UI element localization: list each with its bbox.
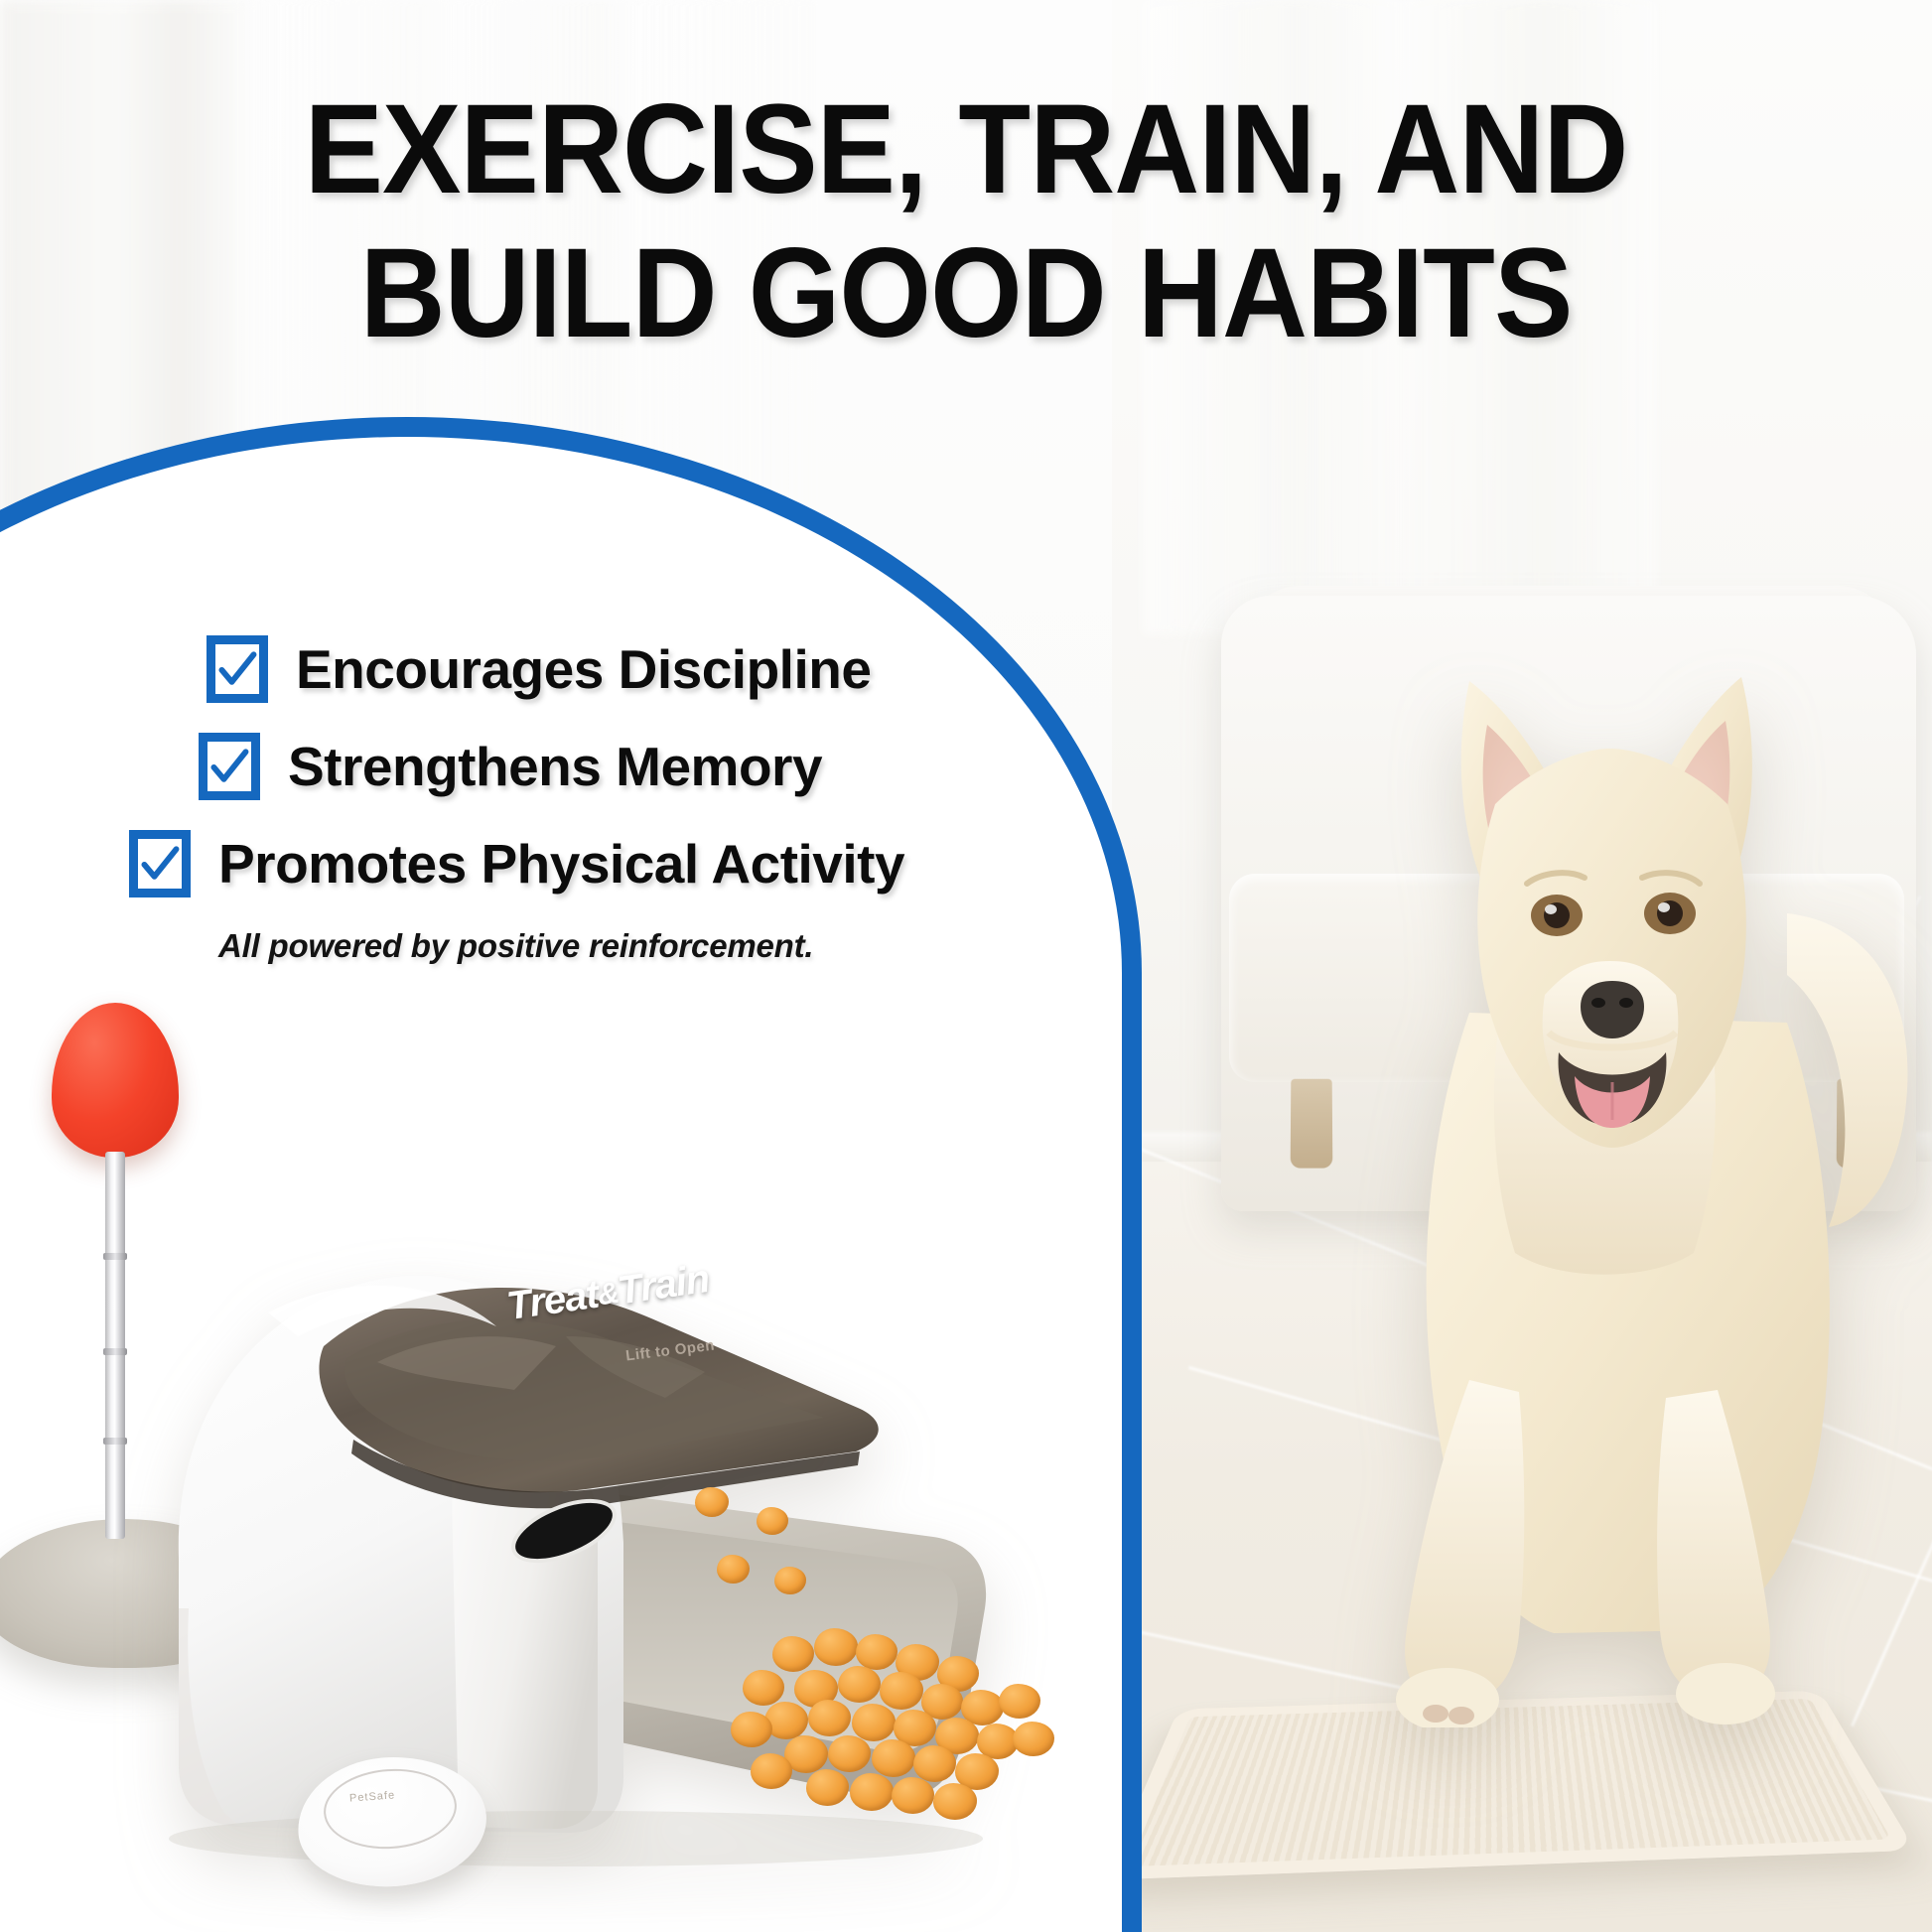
checklist-item-label: Encourages Discipline bbox=[296, 637, 871, 701]
headline-line-2: BUILD GOOD HABITS bbox=[68, 227, 1864, 359]
checklist-item[interactable]: Promotes Physical Activity bbox=[129, 830, 1023, 897]
tagline: All powered by positive reinforcement. bbox=[218, 927, 1023, 965]
kibble bbox=[717, 1555, 750, 1584]
marketing-banner: EXERCISE, TRAIN, AND BUILD GOOD HABITS E… bbox=[0, 0, 1932, 1932]
checklist-item-label: Strengthens Memory bbox=[288, 735, 822, 798]
kibble bbox=[757, 1507, 788, 1535]
target-stick-joint bbox=[103, 1438, 127, 1445]
headline: EXERCISE, TRAIN, AND BUILD GOOD HABITS bbox=[0, 83, 1932, 359]
checkmark-icon[interactable] bbox=[129, 830, 191, 897]
headline-line-1: EXERCISE, TRAIN, AND bbox=[68, 83, 1864, 215]
target-stick-ball bbox=[52, 1003, 179, 1158]
kibble bbox=[695, 1487, 729, 1517]
kibble bbox=[774, 1567, 806, 1594]
target-stick-joint bbox=[103, 1348, 127, 1355]
remote-control[interactable]: PetSafe bbox=[298, 1757, 486, 1886]
target-stick bbox=[10, 1003, 268, 1539]
checkmark-icon[interactable] bbox=[207, 635, 268, 703]
checklist-item[interactable]: Encourages Discipline bbox=[207, 635, 1023, 703]
dog-photo bbox=[1320, 586, 1932, 1727]
checklist-item[interactable]: Strengthens Memory bbox=[199, 733, 1023, 800]
checklist-item-label: Promotes Physical Activity bbox=[218, 832, 904, 896]
target-stick-pole bbox=[105, 1152, 125, 1539]
checkmark-icon[interactable] bbox=[199, 733, 260, 800]
target-stick-joint bbox=[103, 1253, 127, 1260]
benefits-checklist: Encourages Discipline Strengthens Memory… bbox=[129, 635, 1023, 965]
